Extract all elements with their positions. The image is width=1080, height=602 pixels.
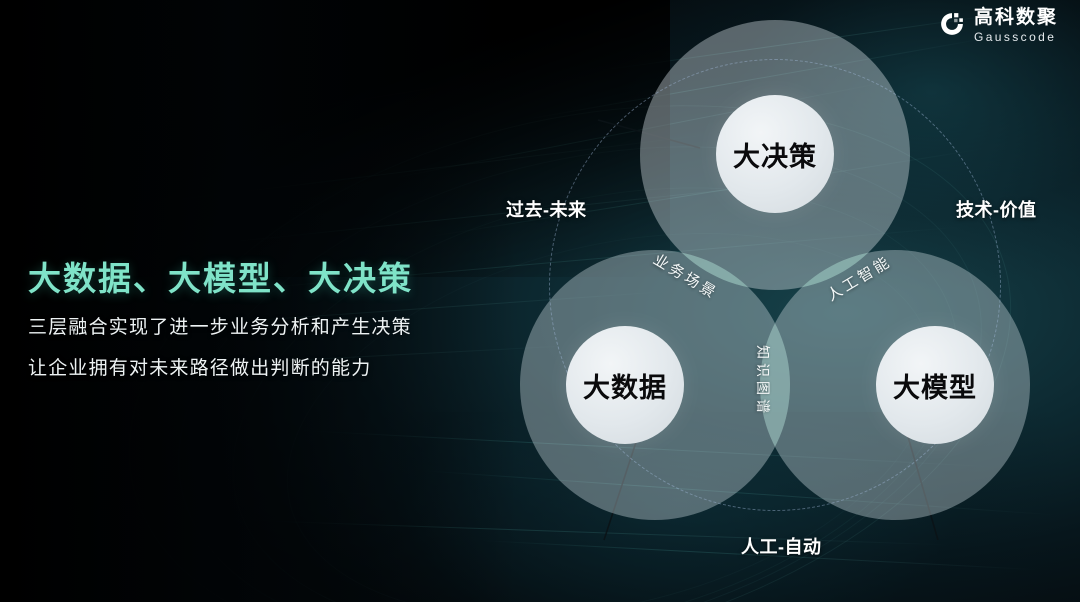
- brand-logo: 高科数聚 Gausscode: [939, 8, 1058, 43]
- brand-name-en: Gausscode: [974, 31, 1058, 43]
- venn-node-decision[interactable]: 大决策: [716, 95, 834, 213]
- subtitle-line-2: 让企业拥有对未来路径做出判断的能力: [28, 359, 498, 378]
- brand-wordmark: 高科数聚 Gausscode: [974, 8, 1058, 43]
- subtitle-line-1: 三层融合实现了进一步业务分析和产生决策: [28, 318, 498, 337]
- axis-label-tech-value: 技术-价值: [956, 196, 1037, 222]
- gausscode-circle-mark-icon: [939, 11, 965, 37]
- venn-node-bigmodel-label: 大模型: [893, 366, 977, 405]
- axis-label-manual-auto: 人工-自动: [741, 533, 822, 559]
- venn-node-bigdata-label: 大数据: [583, 366, 667, 405]
- page-title: 大数据、大模型、大决策: [28, 252, 498, 300]
- brand-name-cn: 高科数聚: [974, 8, 1058, 27]
- headline-block: 大数据、大模型、大决策 三层融合实现了进一步业务分析和产生决策 让企业拥有对未来…: [28, 252, 498, 400]
- venn-node-bigmodel[interactable]: 大模型: [876, 326, 994, 444]
- overlap-label-knowledge-graph: 知识图谱: [753, 345, 773, 417]
- venn-node-bigdata[interactable]: 大数据: [566, 326, 684, 444]
- venn-node-decision-label: 大决策: [733, 135, 817, 174]
- axis-label-past-future: 过去-未来: [506, 196, 587, 222]
